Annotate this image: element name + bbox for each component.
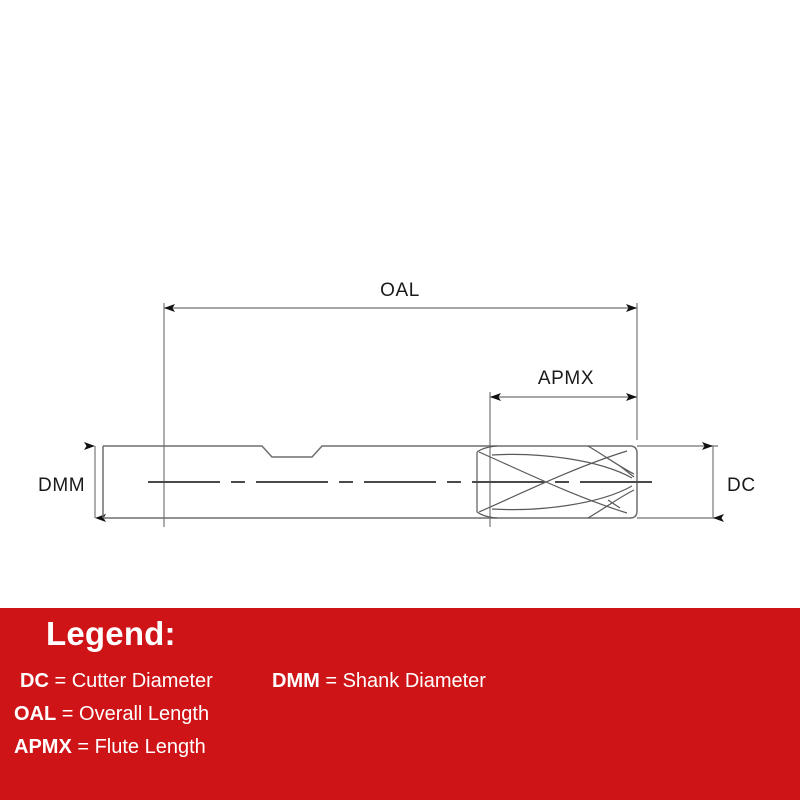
legend-rows: DC = Cutter Diameter DMM = Shank Diamete…: [0, 670, 800, 769]
flute-land-lower: [492, 486, 632, 510]
legend-eq-dc: =: [49, 670, 72, 692]
legend-entry-dmm: DMM = Shank Diameter: [272, 670, 486, 693]
legend-eq-apmx: =: [72, 736, 95, 758]
legend-desc-dmm: Shank Diameter: [343, 670, 486, 692]
flute-land-upper: [492, 454, 632, 478]
legend-entry-oal: OAL = Overall Length: [14, 703, 209, 726]
legend-row-1: DC = Cutter Diameter DMM = Shank Diamete…: [0, 670, 800, 703]
end-mill-drawing: OAL APMX DMM DC: [0, 0, 800, 608]
legend-entry-dc: DC = Cutter Diameter: [20, 670, 213, 693]
legend-desc-dc: Cutter Diameter: [72, 670, 213, 692]
legend-abbr-oal: OAL: [14, 703, 56, 725]
page-root: OAL APMX DMM DC: [0, 0, 800, 800]
dimension-label-oal: OAL: [380, 280, 420, 301]
legend-entry-apmx: APMX = Flute Length: [14, 736, 206, 759]
dimension-apmx: APMX: [490, 368, 637, 397]
legend-title: Legend:: [46, 615, 176, 653]
dimension-dc: DC: [637, 446, 756, 518]
dimension-label-apmx: APMX: [538, 368, 594, 389]
legend-eq-oal: =: [56, 703, 79, 725]
flute-gash-lower: [588, 490, 634, 518]
flute-entry-bottom: [477, 512, 497, 518]
shank-top-edge: [103, 446, 477, 457]
legend-row-2: OAL = Overall Length: [0, 703, 800, 736]
extension-lines: [164, 303, 637, 527]
flute-entry-top: [477, 446, 497, 452]
legend-desc-apmx: Flute Length: [95, 736, 206, 758]
flute-gash-upper: [588, 446, 634, 474]
legend-banner: Legend: DC = Cutter Diameter DMM = Shank…: [0, 608, 800, 800]
legend-eq-dmm: =: [320, 670, 343, 692]
legend-abbr-apmx: APMX: [14, 736, 72, 758]
dimension-label-dmm: DMM: [38, 475, 85, 496]
dimension-oal: OAL: [164, 280, 637, 308]
legend-row-3: APMX = Flute Length: [0, 736, 800, 769]
dimension-dmm: DMM: [38, 446, 95, 518]
dimension-label-dc: DC: [727, 475, 756, 496]
legend-abbr-dmm: DMM: [272, 670, 320, 692]
legend-desc-oal: Overall Length: [79, 703, 209, 725]
technical-drawing-area: OAL APMX DMM DC: [0, 0, 800, 608]
legend-abbr-dc: DC: [20, 670, 49, 692]
